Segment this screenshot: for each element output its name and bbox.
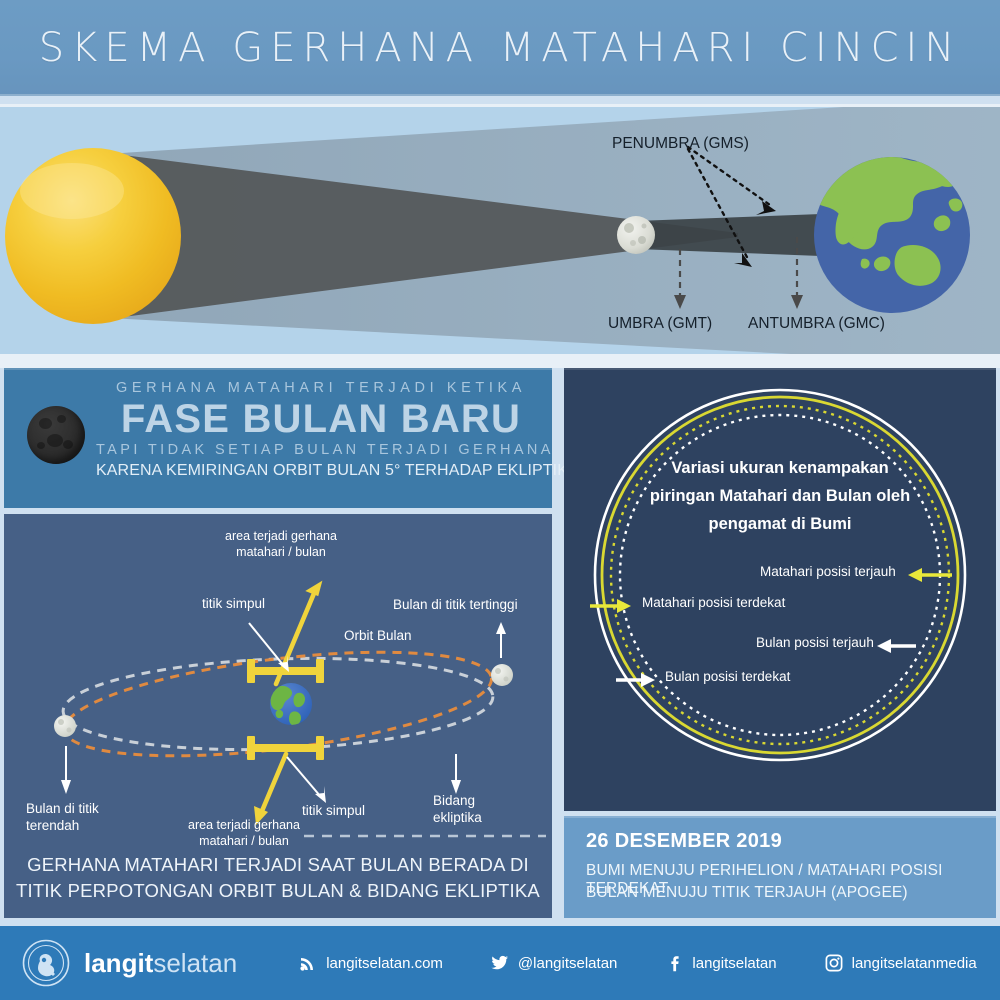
eclipse-area-label-bottom: area terjadi gerhana matahari / bulan (182, 817, 306, 849)
moon-low-icon (54, 715, 76, 737)
event-date: 26 DESEMBER 2019 (586, 830, 782, 853)
page-title: SKEMA GERHANA MATAHARI CINCIN (39, 25, 962, 71)
umbra-label: UMBRA (GMT) (608, 315, 712, 333)
sun-farthest-arrowhead (908, 568, 922, 582)
node-label-bottom: titik simpul (302, 802, 365, 819)
header-bar: SKEMA GERHANA MATAHARI CINCIN (0, 0, 1000, 96)
social-text-instagram: langitselatanmedia (852, 955, 977, 972)
brand-block[interactable]: langitselatan (22, 939, 237, 987)
event-date-panel: 26 DESEMBER 2019 BUMI MENUJU PERIHELION … (564, 816, 996, 918)
brand-wordmark-light: selatan (153, 948, 237, 978)
social-link-website[interactable]: langitselatan.com (299, 954, 443, 972)
eclipse-area-arrow-bottom (262, 754, 286, 811)
moon-low-arrowhead (61, 780, 71, 794)
moon-high-icon (491, 664, 513, 686)
footer-bar: langitselatan langitselatan.com (0, 926, 1000, 1000)
moon-orbit-label: Orbit Bulan (344, 627, 412, 644)
rss-icon (299, 954, 317, 972)
label-moon-nearest: Bulan posisi terdekat (665, 669, 790, 684)
fase-text-block: GERHANA MATAHARI TERJADI KETIKA FASE BUL… (96, 380, 546, 480)
eclipse-geometry-diagram: PENUMBRA (GMS) UMBRA (GMT) ANTUMBRA (GMC… (0, 104, 1000, 357)
fase-line-4: KARENA KEMIRINGAN ORBIT BULAN 5° TERHADA… (96, 462, 546, 480)
twitter-icon (491, 954, 509, 972)
label-sun-nearest: Matahari posisi terdekat (642, 595, 785, 610)
new-moon-icon (27, 406, 85, 464)
circles-panel-title: Variasi ukuran kenampakan piringan Matah… (614, 454, 946, 538)
moon-high-arrowhead (496, 622, 506, 634)
infographic-page: SKEMA GERHANA MATAHARI CINCIN (0, 0, 1000, 1000)
apparent-size-circles-svg (564, 368, 996, 811)
label-sun-farthest: Matahari posisi terjauh (760, 564, 896, 579)
penumbra-label: PENUMBRA (GMS) (612, 135, 749, 153)
social-text-twitter: @langitselatan (518, 955, 617, 972)
moon-highest-label: Bulan di titik tertinggi (393, 596, 518, 613)
event-detail-line-2: BULAN MENUJU TITIK TERJAUH (APOGEE) (586, 884, 908, 902)
new-moon-phase-panel: GERHANA MATAHARI TERJADI KETIKA FASE BUL… (4, 368, 552, 508)
moon-icon (617, 216, 655, 254)
apparent-size-variation-panel: Variasi ukuran kenampakan piringan Matah… (564, 368, 996, 811)
label-moon-farthest: Bulan posisi terjauh (756, 635, 874, 650)
fase-line-2: FASE BULAN BARU (96, 396, 546, 442)
fase-line-3: TAPI TIDAK SETIAP BULAN TERJADI GERHANA (96, 442, 546, 458)
sun-icon (5, 148, 181, 324)
earth-icon-orbit (270, 683, 312, 726)
moon-lowest-label: Bulan di titik terendah (26, 800, 99, 834)
langitselatan-seal-logo-icon (22, 939, 70, 987)
social-links: langitselatan.com @langitselatan langits… (299, 954, 977, 972)
instagram-icon (825, 954, 843, 972)
orbit-panel-caption: GERHANA MATAHARI TERJADI SAAT BULAN BERA… (4, 852, 552, 904)
social-link-instagram[interactable]: langitselatanmedia (825, 954, 977, 972)
moon-orbit-diagram-panel: area terjadi gerhana matahari / bulan ti… (4, 514, 552, 918)
social-text-website: langitselatan.com (326, 955, 443, 972)
eclipse-area-arrowhead-top (305, 576, 324, 596)
fase-line-1: GERHANA MATAHARI TERJADI KETIKA (96, 380, 546, 396)
brand-wordmark-bold: langit (84, 948, 153, 978)
node-label-top: titik simpul (202, 595, 265, 612)
social-link-twitter[interactable]: @langitselatan (491, 954, 617, 972)
brand-wordmark: langitselatan (84, 950, 237, 976)
social-link-facebook[interactable]: langitselatan (665, 954, 776, 972)
antumbra-label: ANTUMBRA (GMC) (748, 315, 885, 333)
social-text-facebook: langitselatan (692, 955, 776, 972)
moon-farthest-arrowhead (877, 639, 891, 653)
eclipse-area-label-top: area terjadi gerhana matahari / bulan (186, 528, 376, 560)
node-bottom-arrowhead (315, 786, 326, 803)
facebook-icon (665, 954, 683, 972)
ecliptic-plane-label: Bidang ekliptika (433, 792, 482, 826)
section-divider-1 (0, 354, 1000, 368)
